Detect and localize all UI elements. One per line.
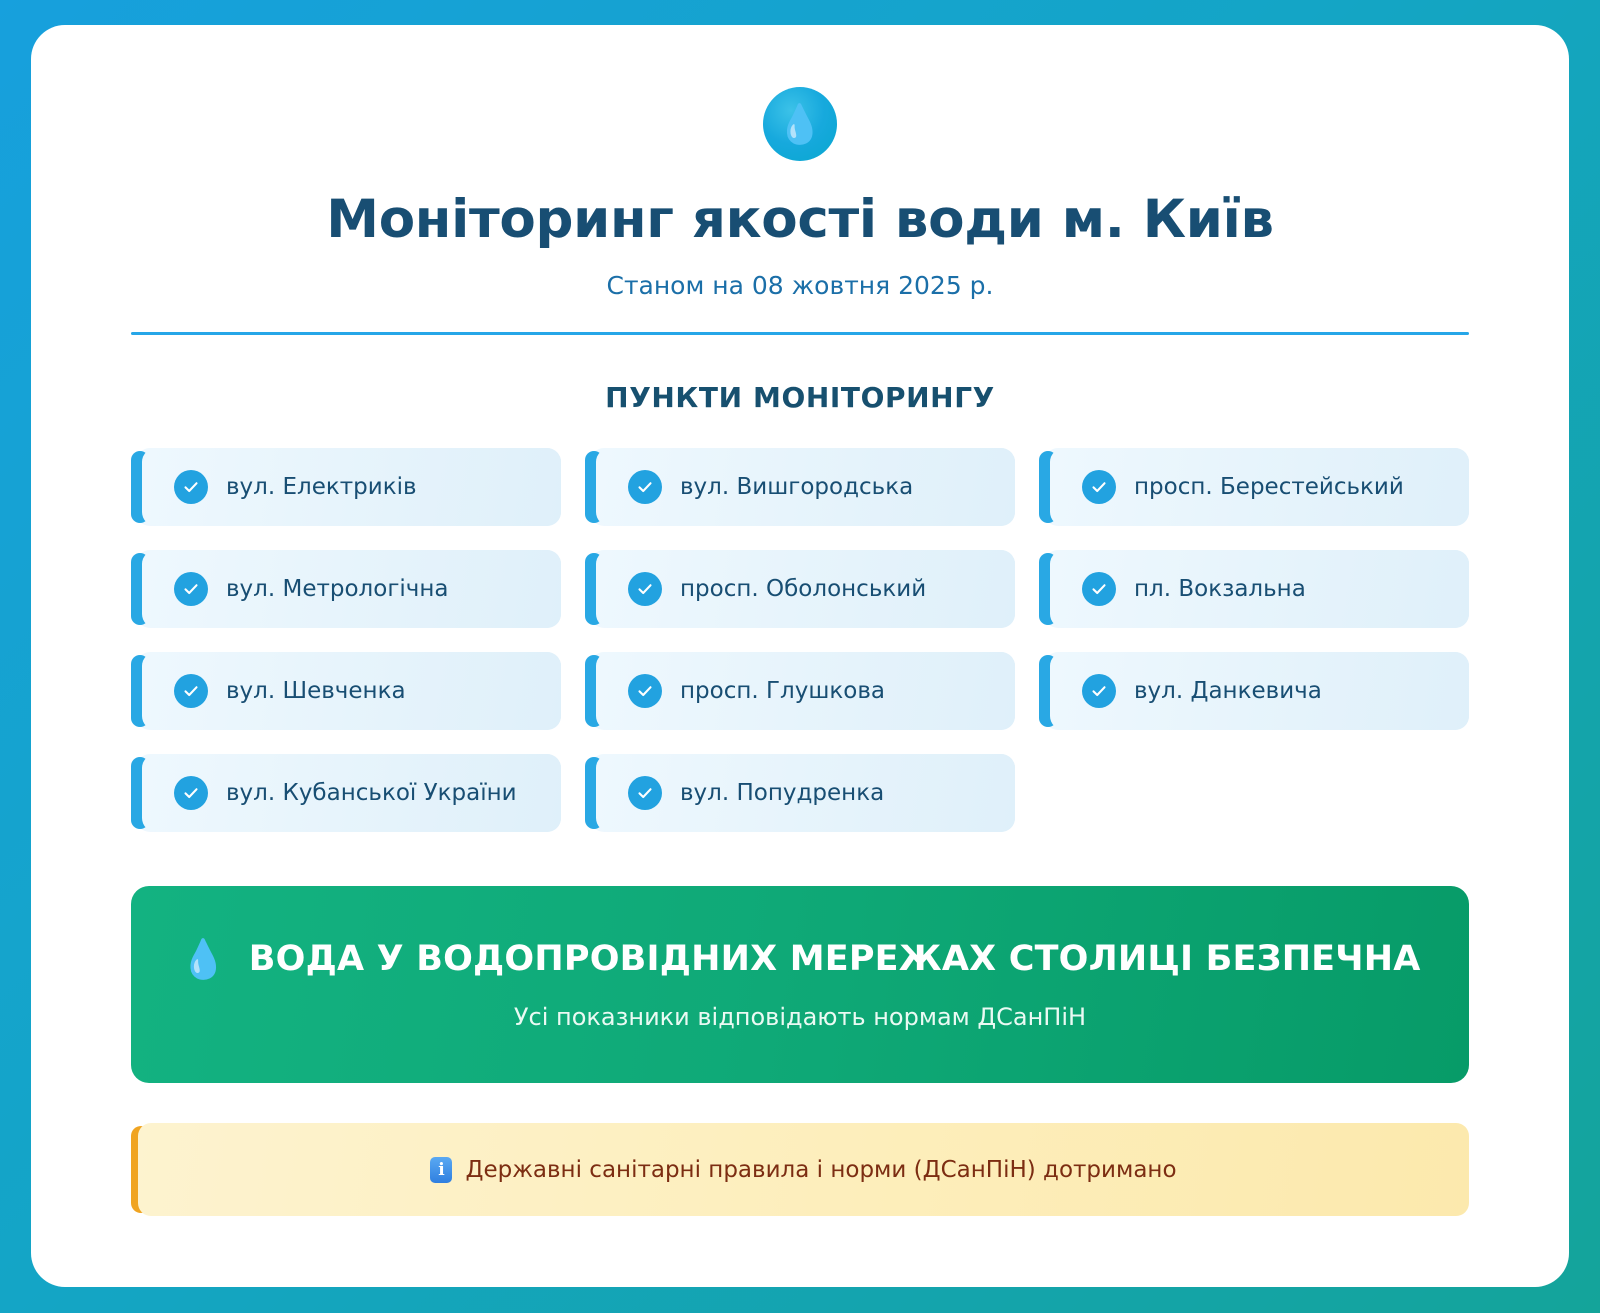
monitoring-point-card[interactable]: вул. Електриків [136, 448, 561, 526]
monitoring-point-label: вул. Попудренка [680, 780, 884, 806]
monitoring-point-label: вул. Електриків [226, 474, 417, 500]
info-icon: i [430, 1157, 452, 1183]
monitoring-point-label: вул. Метрологічна [226, 576, 449, 602]
monitoring-point-label: пл. Вокзальна [1134, 576, 1306, 602]
infographic-card: 💧 Моніторинг якості води м. Київ Станом … [31, 25, 1569, 1287]
page-title: Моніторинг якості води м. Київ [31, 191, 1569, 249]
check-circle-icon [628, 674, 662, 708]
safety-headline: ВОДА У ВОДОПРОВІДНИХ МЕРЕЖАХ СТОЛИЦІ БЕЗ… [249, 939, 1421, 979]
monitoring-point-label: вул. Данкевича [1134, 678, 1322, 704]
monitoring-point-card[interactable]: пл. Вокзальна [1044, 550, 1469, 628]
header: 💧 Моніторинг якості води м. Київ Станом … [31, 25, 1569, 335]
check-circle-icon [174, 470, 208, 504]
monitoring-point-card[interactable]: вул. Кубанської України [136, 754, 561, 832]
section-title: ПУНКТИ МОНІТОРИНГУ [31, 381, 1569, 414]
monitoring-points-grid: вул. Електриків вул. Вишгородська просп.… [131, 448, 1469, 832]
monitoring-point-label: вул. Вишгородська [680, 474, 913, 500]
water-drop-icon: 💧 [179, 940, 226, 978]
header-divider [131, 332, 1469, 335]
monitoring-point-card[interactable]: вул. Шевченка [136, 652, 561, 730]
check-circle-icon [174, 776, 208, 810]
water-drop-glyph: 💧 [776, 105, 823, 143]
check-circle-icon [174, 572, 208, 606]
monitoring-point-card[interactable]: вул. Данкевича [1044, 652, 1469, 730]
monitoring-point-label: вул. Шевченка [226, 678, 406, 704]
compliance-note-text: Державні санітарні правила і норми (ДСан… [465, 1157, 1176, 1183]
check-circle-icon [628, 572, 662, 606]
page-subtitle-date: Станом на 08 жовтня 2025 р. [31, 271, 1569, 300]
monitoring-point-label: просп. Глушкова [680, 678, 885, 704]
monitoring-point-card[interactable]: просп. Берестейський [1044, 448, 1469, 526]
monitoring-point-card[interactable]: просп. Оболонський [590, 550, 1015, 628]
check-circle-icon [628, 470, 662, 504]
check-circle-icon [1082, 674, 1116, 708]
compliance-note-banner: i Державні санітарні правила і норми (ДС… [131, 1123, 1469, 1216]
monitoring-point-label: просп. Берестейський [1134, 474, 1404, 500]
monitoring-point-label: вул. Кубанської України [226, 780, 517, 806]
monitoring-point-card[interactable]: вул. Попудренка [590, 754, 1015, 832]
monitoring-point-card[interactable]: вул. Вишгородська [590, 448, 1015, 526]
check-circle-icon [174, 674, 208, 708]
check-circle-icon [1082, 470, 1116, 504]
monitoring-point-label: просп. Оболонський [680, 576, 926, 602]
water-drop-icon: 💧 [763, 87, 837, 161]
safety-subtitle: Усі показники відповідають нормам ДСанПі… [514, 1003, 1086, 1031]
note-face: i Державні санітарні правила і норми (ДС… [138, 1123, 1469, 1216]
safety-status-banner: 💧 ВОДА У ВОДОПРОВІДНИХ МЕРЕЖАХ СТОЛИЦІ Б… [131, 886, 1469, 1083]
monitoring-point-card[interactable]: вул. Метрологічна [136, 550, 561, 628]
monitoring-point-card[interactable]: просп. Глушкова [590, 652, 1015, 730]
check-circle-icon [628, 776, 662, 810]
check-circle-icon [1082, 572, 1116, 606]
